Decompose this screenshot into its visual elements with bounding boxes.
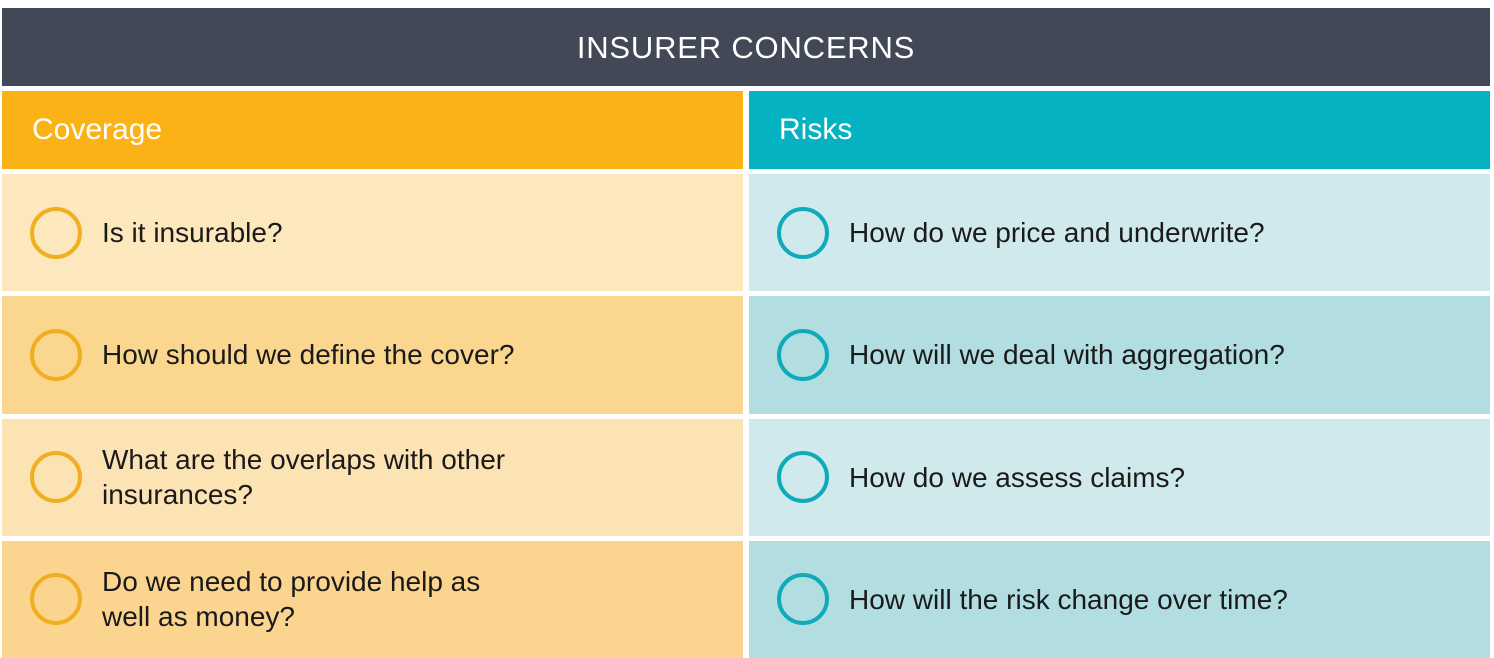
list-item[interactable]: Do we need to provide help as well as mo… <box>2 541 743 658</box>
list-item[interactable]: How will we deal with aggregation? <box>749 296 1490 413</box>
page-title: INSURER CONCERNS <box>577 32 915 63</box>
circle-outline-icon <box>30 207 82 259</box>
column-risks: Risks How do we price and underwrite? Ho… <box>749 91 1490 658</box>
column-header-coverage: Coverage <box>2 91 743 169</box>
circle-outline-icon <box>30 329 82 381</box>
list-item-label: Is it insurable? <box>102 215 283 250</box>
circle-outline-icon <box>30 573 82 625</box>
column-coverage: Coverage Is it insurable? How should we … <box>2 91 743 658</box>
list-item-label: How do we assess claims? <box>849 460 1185 495</box>
list-item-label: What are the overlaps with other insuran… <box>102 442 505 512</box>
list-item[interactable]: How will the risk change over time? <box>749 541 1490 658</box>
list-item-label: How do we price and underwrite? <box>849 215 1265 250</box>
list-item[interactable]: How do we price and underwrite? <box>749 174 1490 291</box>
list-item[interactable]: Is it insurable? <box>2 174 743 291</box>
column-header-label: Risks <box>779 115 852 145</box>
circle-outline-icon <box>777 329 829 381</box>
list-item-label: How should we define the cover? <box>102 337 514 372</box>
title-banner: INSURER CONCERNS <box>2 8 1490 86</box>
list-item-label: How will the risk change over time? <box>849 582 1288 617</box>
columns-container: Coverage Is it insurable? How should we … <box>2 91 1490 658</box>
list-item[interactable]: What are the overlaps with other insuran… <box>2 419 743 536</box>
list-item[interactable]: How should we define the cover? <box>2 296 743 413</box>
list-item-label: How will we deal with aggregation? <box>849 337 1285 372</box>
list-item-label: Do we need to provide help as well as mo… <box>102 564 480 634</box>
column-header-risks: Risks <box>749 91 1490 169</box>
circle-outline-icon <box>777 573 829 625</box>
circle-outline-icon <box>777 207 829 259</box>
circle-outline-icon <box>777 451 829 503</box>
circle-outline-icon <box>30 451 82 503</box>
list-item[interactable]: How do we assess claims? <box>749 419 1490 536</box>
insurer-concerns-infographic: INSURER CONCERNS Coverage Is it insurabl… <box>0 0 1494 658</box>
column-header-label: Coverage <box>32 115 162 145</box>
